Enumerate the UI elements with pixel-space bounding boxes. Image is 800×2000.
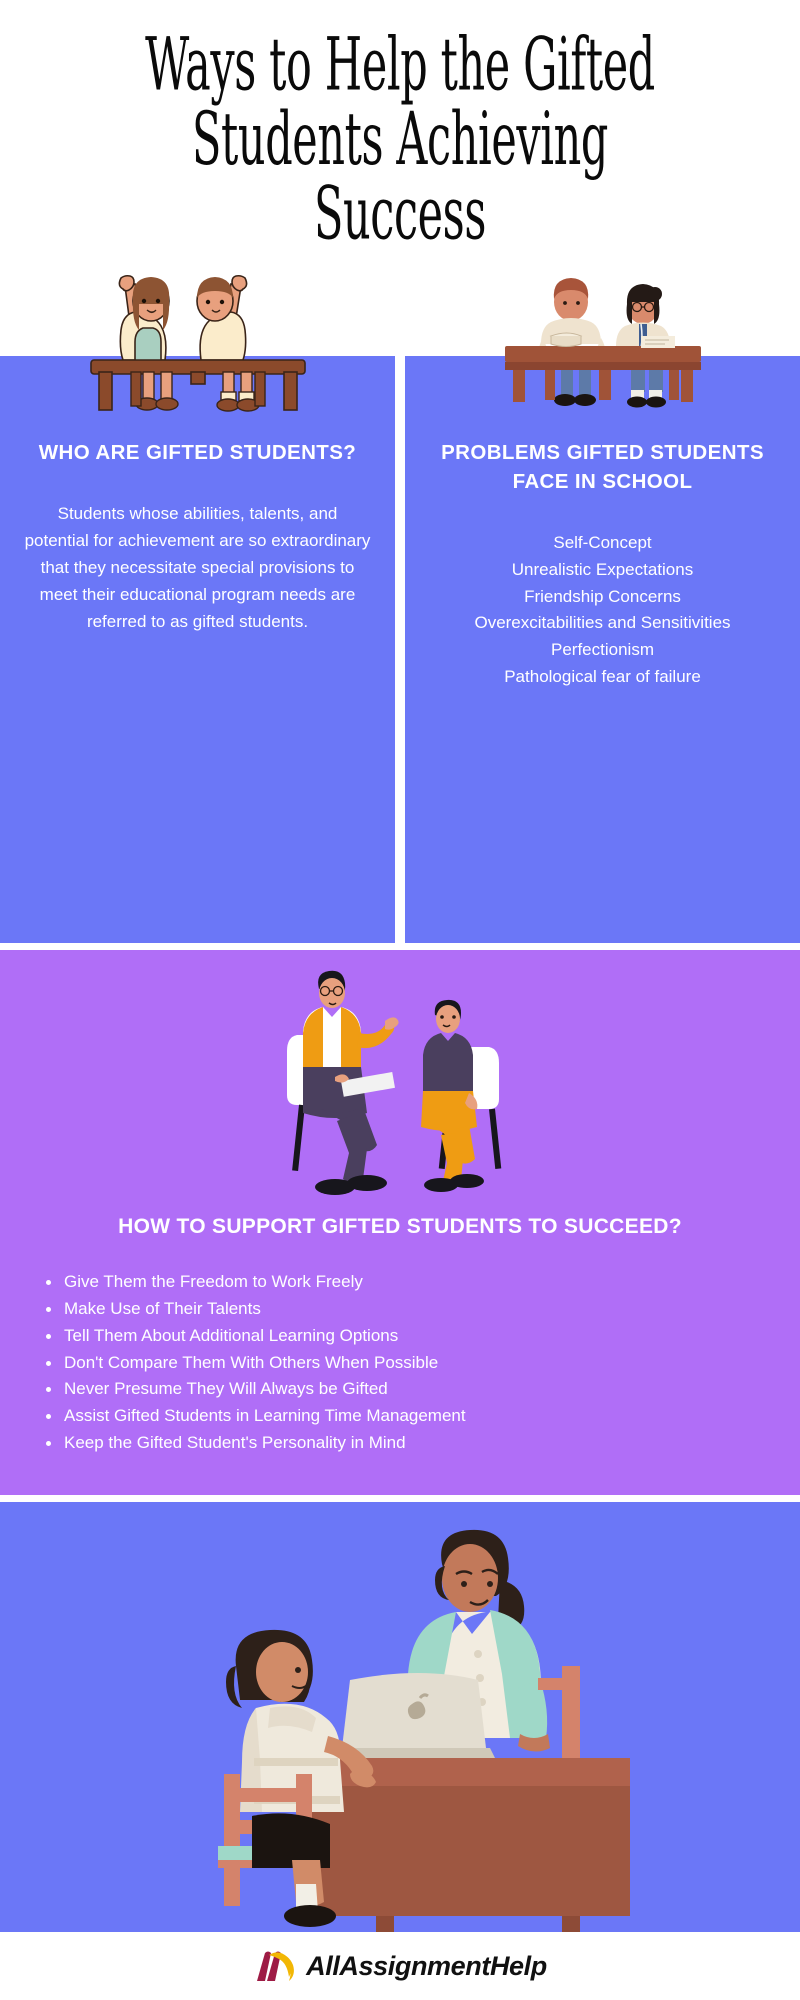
list-item: Pathological fear of failure xyxy=(423,664,782,691)
list-item: Don't Compare Them With Others When Poss… xyxy=(44,1350,800,1377)
list-item: Overexcitabilities and Sensitivities xyxy=(423,610,782,637)
double-m-swoosh-logo-icon xyxy=(253,1949,299,1983)
list-item: Assist Gifted Students in Learning Time … xyxy=(44,1403,800,1430)
body-who-are-gifted-students: Students whose abilities, talents, and p… xyxy=(18,501,377,635)
column-who-are-gifted-students: WHO ARE GIFTED STUDENTS? Students whose … xyxy=(0,356,395,943)
list-item: Give Them the Freedom to Work Freely xyxy=(44,1269,800,1296)
page-title: Ways to Help the Gifted Students Achievi… xyxy=(134,28,667,252)
column-content-right: PROBLEMS GIFTED STUDENTS FACE IN SCHOOL … xyxy=(423,356,782,690)
list-item: Perfectionism xyxy=(423,637,782,664)
column-problems-gifted-students-face: PROBLEMS GIFTED STUDENTS FACE IN SCHOOL … xyxy=(405,356,800,943)
list-item: Keep the Gifted Student's Personality in… xyxy=(44,1430,800,1457)
two-column-blue-section: WHO ARE GIFTED STUDENTS? Students whose … xyxy=(0,356,800,943)
footer-logo-bar: AllAssignmentHelp xyxy=(0,1932,800,2000)
list-item: Friendship Concerns xyxy=(423,584,782,611)
heading-problems-gifted-students-face: PROBLEMS GIFTED STUDENTS FACE IN SCHOOL xyxy=(423,438,782,496)
list-item: Never Presume They Will Always be Gifted xyxy=(44,1376,800,1403)
list-item: Make Use of Their Talents xyxy=(44,1296,800,1323)
bottom-illustration-section xyxy=(0,1502,800,1932)
page-title-block: Ways to Help the Gifted Students Achievi… xyxy=(0,0,800,211)
heading-who-are-gifted-students: WHO ARE GIFTED STUDENTS? xyxy=(18,438,377,467)
counselor-talking-with-student-seated-in-chairs-illustration xyxy=(0,950,800,1205)
list-item: Unrealistic Expectations xyxy=(423,557,782,584)
teacher-with-laptop-and-student-at-table-illustration xyxy=(170,1520,630,1932)
column-content-left: WHO ARE GIFTED STUDENTS? Students whose … xyxy=(18,356,377,635)
list-item: Tell Them About Additional Learning Opti… xyxy=(44,1323,800,1350)
list-item: Self-Concept xyxy=(423,530,782,557)
heading-how-to-support: HOW TO SUPPORT GIFTED STUDENTS TO SUCCEE… xyxy=(0,1215,800,1239)
problems-list: Self-Concept Unrealistic Expectations Fr… xyxy=(423,530,782,690)
support-list: Give Them the Freedom to Work Freely Mak… xyxy=(0,1269,800,1457)
logo-text: AllAssignmentHelp xyxy=(306,1951,547,1982)
support-section: HOW TO SUPPORT GIFTED STUDENTS TO SUCCEE… xyxy=(0,950,800,1495)
infographic-page: Ways to Help the Gifted Students Achievi… xyxy=(0,0,800,2000)
